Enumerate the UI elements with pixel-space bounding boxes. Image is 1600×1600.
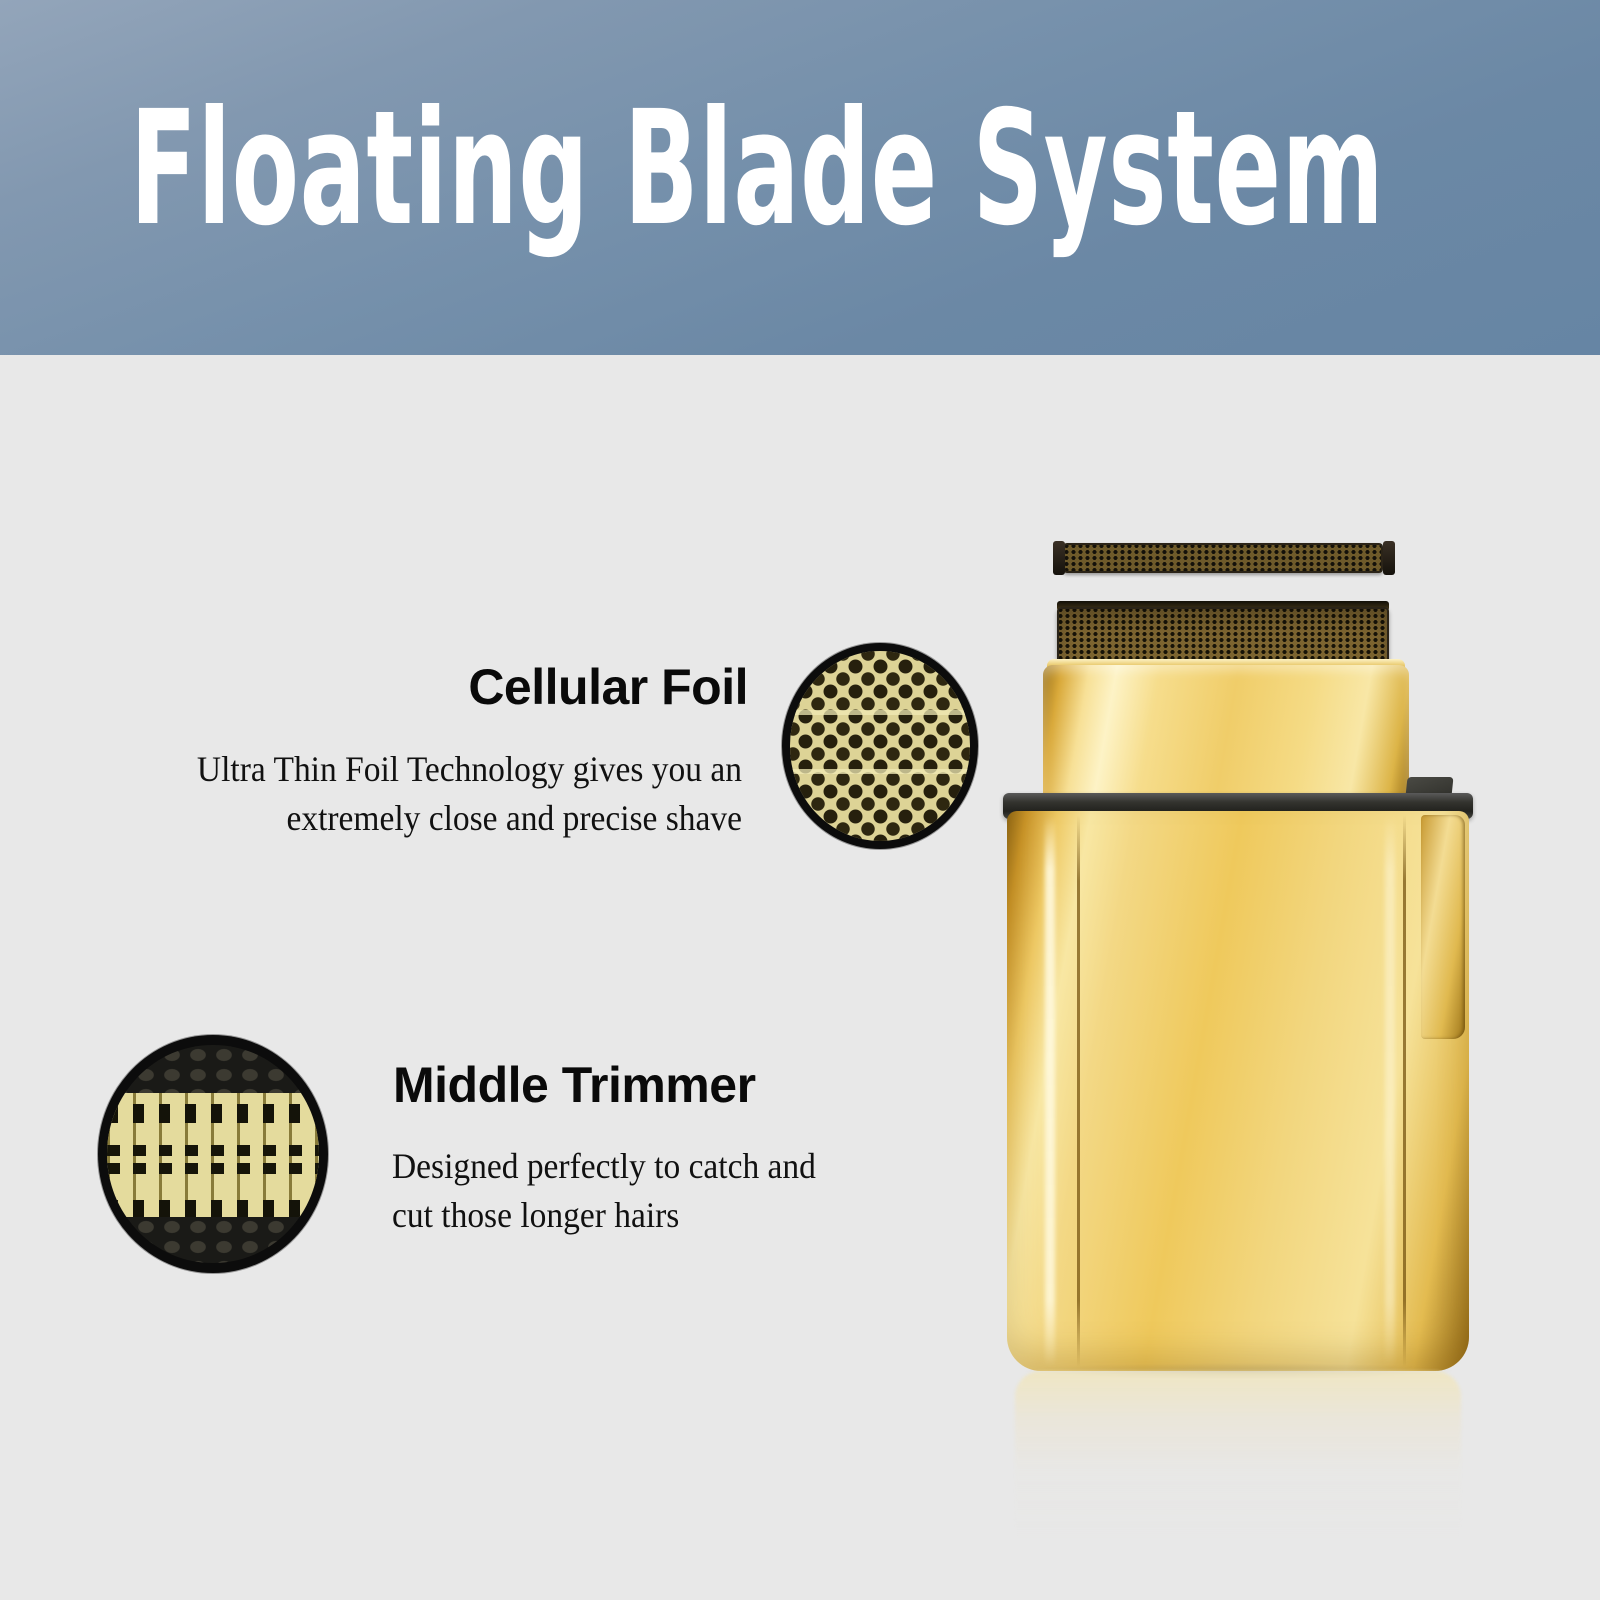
product-image-gold-foil-shaver (985, 515, 1490, 1475)
trimmer-bar-2 (107, 1163, 319, 1174)
foil-mesh-band-2 (790, 769, 970, 774)
shaver-upper-foil-cap-right (1383, 541, 1395, 575)
shaver-body-seam-right (1403, 815, 1406, 1367)
trimmer-gold-plate-upper (107, 1123, 319, 1145)
cellular-foil-mesh-icon (782, 643, 978, 849)
trimmer-gold-gap (107, 1156, 319, 1163)
foil-mesh-band-1 (790, 710, 970, 715)
shaver-mirror-reflection (1015, 1371, 1461, 1541)
feature-body-middle-trimmer: Designed perfectly to catch and cut thos… (392, 1142, 829, 1240)
header-banner: Floating Blade System (0, 0, 1600, 355)
feature-heading-middle-trimmer: Middle Trimmer (393, 1058, 756, 1113)
trimmer-bar-1 (107, 1145, 319, 1156)
shaver-body-highlight-left (1045, 815, 1055, 1367)
trimmer-teeth-upper (107, 1104, 319, 1124)
shaver-side-panel (1421, 815, 1465, 1039)
middle-trimmer-icon (98, 1035, 328, 1273)
feature-body-cellular-foil: Ultra Thin Foil Technology gives you an … (147, 745, 742, 843)
trimmer-teeth-lower (107, 1200, 319, 1218)
page-title: Floating Blade System (130, 90, 967, 248)
shaver-body-seam-left (1077, 815, 1080, 1367)
feature-heading-cellular-foil: Cellular Foil (468, 660, 748, 715)
trimmer-gold-rail-top (107, 1093, 319, 1104)
trimmer-mesh-top (107, 1045, 319, 1093)
shaver-upper-foil (1063, 543, 1383, 573)
shaver-lower-foil (1057, 607, 1389, 663)
foil-mesh-texture (790, 651, 970, 841)
cellular-foil-mesh-inner (790, 651, 970, 841)
shaver-body-highlight-right (1385, 815, 1395, 1367)
trimmer-gold-plate-lower (107, 1174, 319, 1200)
shaver-head-front (1043, 665, 1409, 813)
trimmer-mesh-bottom (107, 1217, 319, 1263)
infographic-canvas: Floating Blade System Cellular Foil Ultr… (0, 0, 1600, 1600)
shaver-upper-foil-cap-left (1053, 541, 1065, 575)
middle-trimmer-inner (107, 1045, 319, 1264)
